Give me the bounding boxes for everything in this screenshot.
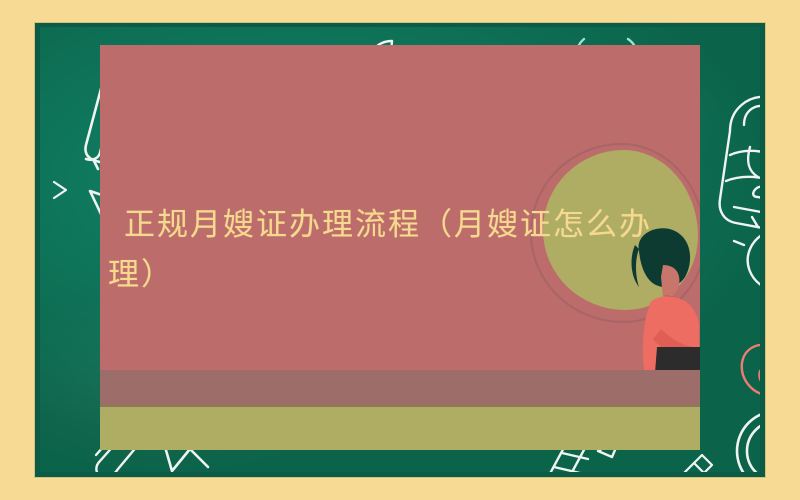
magnifier-icon	[695, 405, 760, 472]
apple-outline-icon	[730, 327, 760, 403]
card-band	[100, 370, 700, 405]
arrow-marker-icon	[48, 177, 78, 203]
article-thumbnail-card[interactable]: 正规月嫂证办理流程（月嫂证怎么办理）	[100, 45, 700, 450]
screenshot-stage: 正规月嫂证办理流程（月嫂证怎么办理）	[0, 0, 800, 500]
card-headline: 正规月嫂证办理流程（月嫂证怎么办理）	[108, 200, 700, 300]
pen-tip-icon	[660, 451, 730, 472]
lightbulb-icon	[728, 205, 760, 325]
backpack-icon	[700, 85, 760, 245]
card-footer	[100, 407, 700, 450]
